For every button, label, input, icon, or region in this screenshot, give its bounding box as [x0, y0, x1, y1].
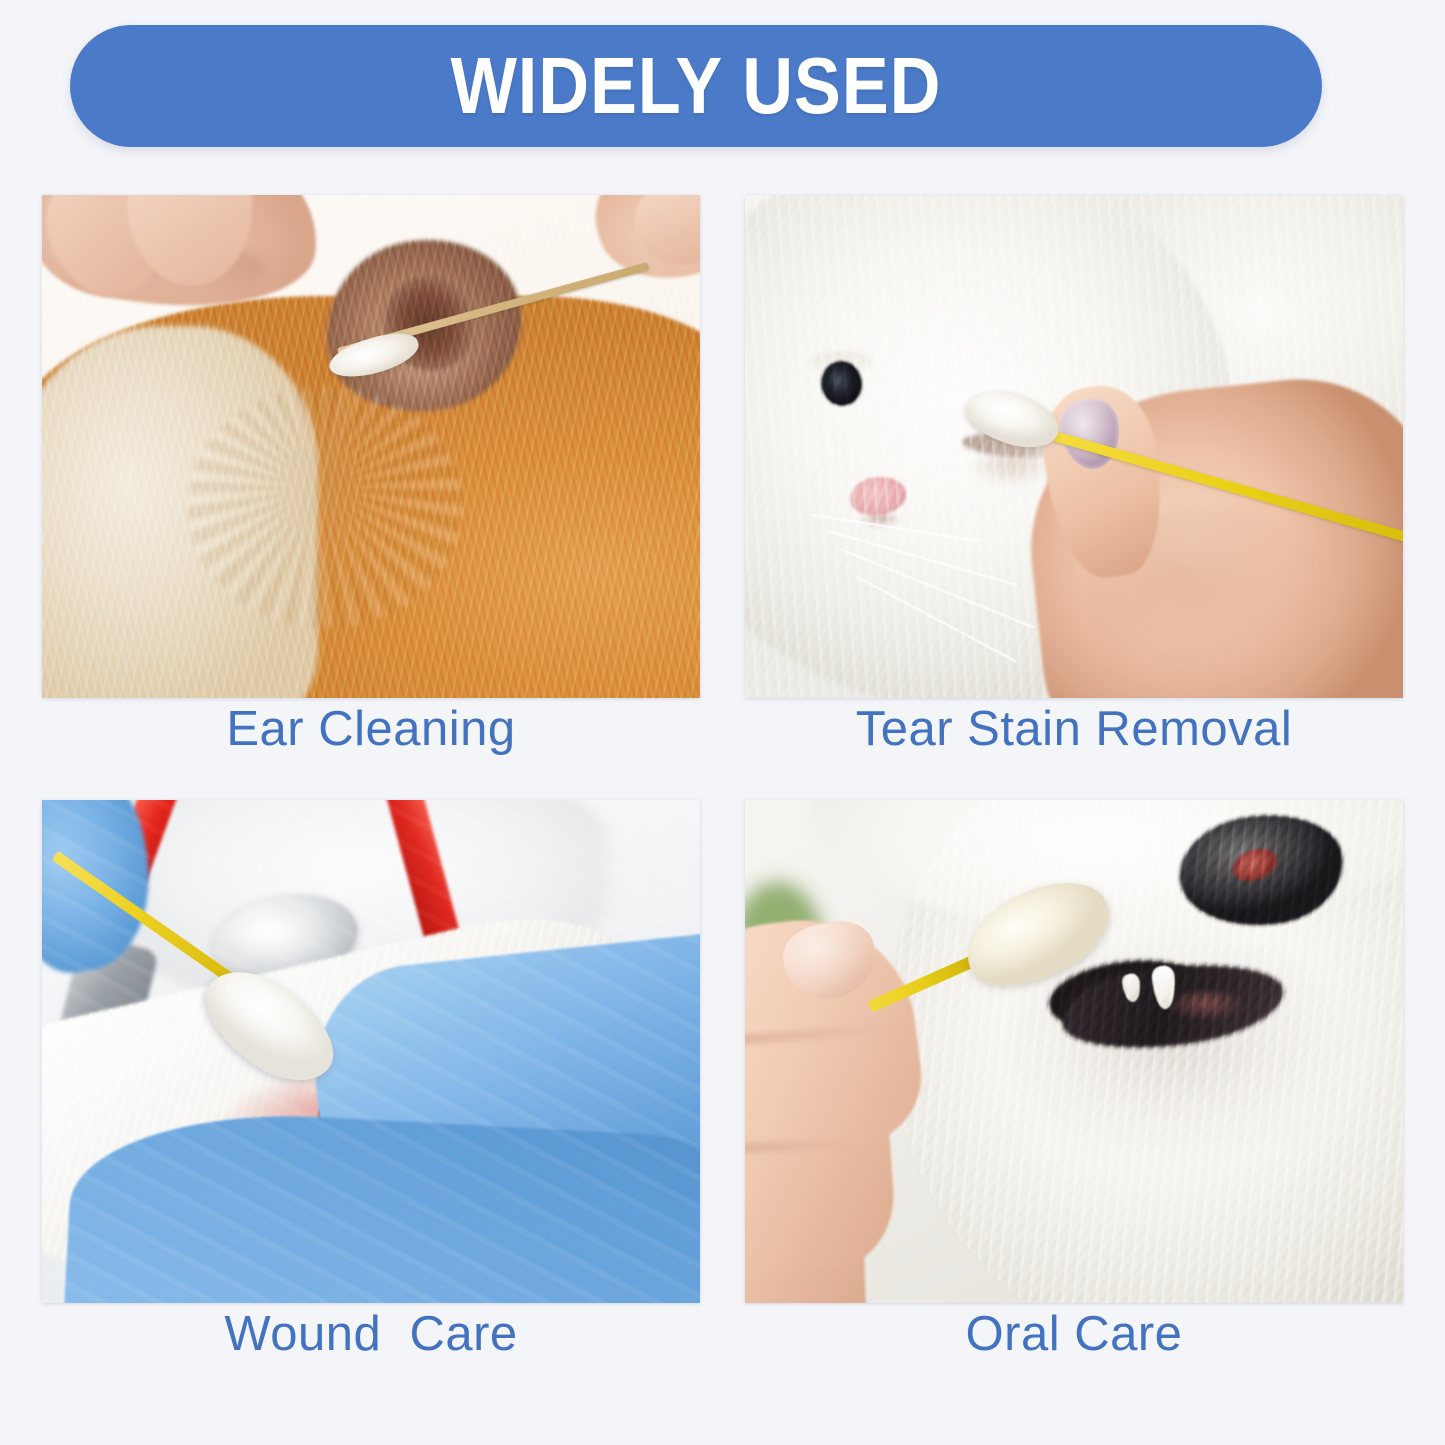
banner-title: WIDELY USED — [451, 46, 942, 126]
dog-fur-texture — [890, 800, 1403, 1303]
use-case-grid: Ear Cleaning Tear Stain Remov — [42, 195, 1403, 1430]
tear-stain-removal-photo — [745, 195, 1403, 698]
use-case-caption: Wound Care — [42, 1303, 700, 1365]
use-case-caption: Oral Care — [745, 1303, 1403, 1365]
ear-cleaning-photo — [42, 195, 700, 698]
oral-care-photo — [745, 800, 1403, 1303]
use-case-card-ear-cleaning: Ear Cleaning — [42, 195, 700, 760]
use-case-card-oral-care: Oral Care — [745, 800, 1403, 1365]
widely-used-banner: WIDELY USED — [70, 25, 1322, 147]
use-case-caption: Tear Stain Removal — [745, 698, 1403, 760]
use-case-card-wound-care: Wound Care — [42, 800, 700, 1365]
use-case-card-tear-stain-removal: Tear Stain Removal — [745, 195, 1403, 760]
wound-care-photo — [42, 800, 700, 1303]
use-case-caption: Ear Cleaning — [42, 698, 700, 760]
glove-wrinkle-texture — [42, 800, 700, 1303]
